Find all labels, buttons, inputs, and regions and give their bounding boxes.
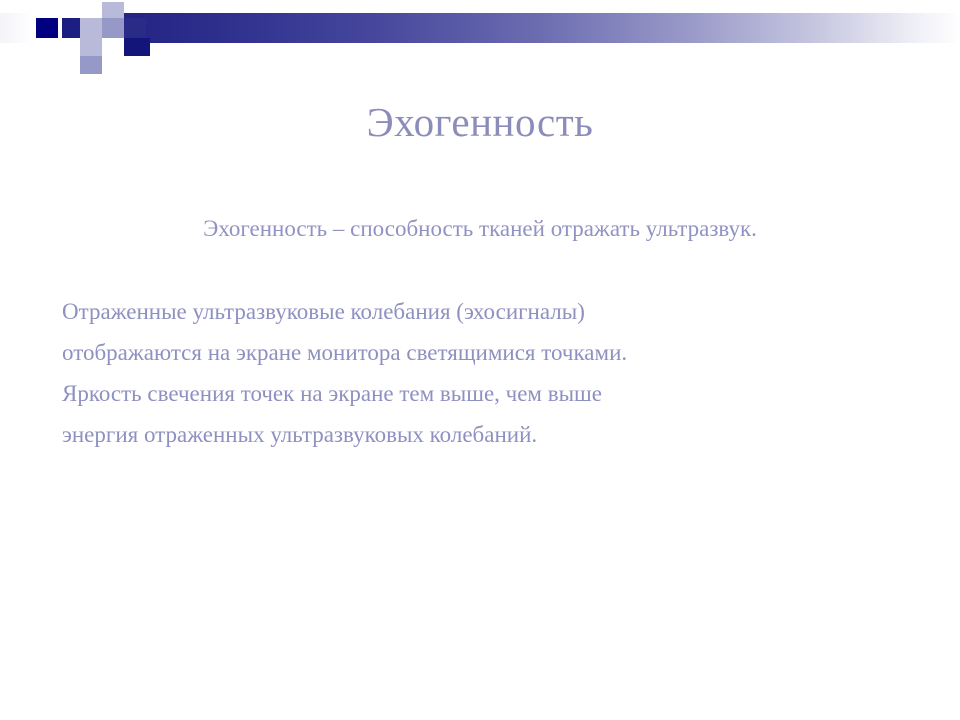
- mosaic-square-white-d: [80, 2, 102, 18]
- mosaic-square-lavender-g: [102, 2, 124, 18]
- mosaic-square-white-lower-left: [36, 38, 58, 56]
- slide-body: Эхогенность – способность тканей отражат…: [56, 212, 904, 455]
- definition-line: Эхогенность – способность тканей отражат…: [56, 212, 904, 245]
- paragraph-line: отображаются на экране монитора светящим…: [62, 332, 904, 373]
- mosaic-square-white-j: [58, 56, 80, 74]
- paragraph-line: энергия отраженных ультразвуковых колеба…: [62, 414, 904, 455]
- paragraph-line: Отраженные ультразвуковые колебания (эхо…: [62, 291, 904, 332]
- mosaic-square-navy-l: [124, 18, 146, 38]
- slide-header-decoration: [0, 0, 960, 72]
- mosaic-square-lavender-e: [80, 18, 102, 38]
- mosaic-square-white-top-left: [36, 2, 58, 18]
- mosaic-square-white-c: [58, 38, 80, 56]
- mosaic-square-lavender-f: [80, 38, 102, 56]
- slide-title: Эхогенность: [0, 100, 960, 145]
- paragraph-line: Яркость свечения точек на экране тем выш…: [62, 373, 904, 414]
- mosaic-square-periwinkle-h: [102, 18, 124, 38]
- mosaic-square-white-b: [58, 2, 80, 18]
- mosaic-square-navy-m: [124, 38, 150, 56]
- slide-canvas: Эхогенность Эхогенность – способность тк…: [0, 0, 960, 720]
- description-paragraph: Отраженные ультразвуковые колебания (эхо…: [56, 291, 904, 455]
- mosaic-square-navy-primary: [36, 18, 58, 38]
- mosaic-square-periwinkle-k: [80, 56, 102, 74]
- mosaic-square-white-i: [102, 38, 124, 56]
